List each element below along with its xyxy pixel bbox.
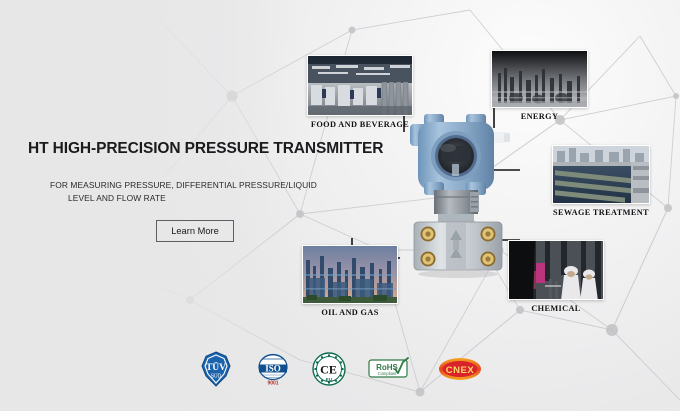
- certification-label-iso: ISO: [265, 363, 281, 373]
- banner-stage: FOOD AND BEVERAGE: [0, 0, 680, 411]
- category-thumbnail-oil-and-gas: [302, 245, 398, 304]
- product-image-pressure-transmitter: [404, 108, 512, 278]
- category-card-chemical[interactable]: CHEMICAL: [508, 240, 604, 313]
- certification-badge-iso: ISO 9001: [256, 352, 290, 386]
- category-label-chemical: CHEMICAL: [508, 304, 604, 313]
- certification-label-ce: CE: [320, 363, 337, 377]
- certification-sublabel-iso: 9001: [267, 381, 278, 387]
- hero-subtitle-line2: LEVEL AND FLOW RATE: [50, 192, 358, 205]
- certification-badges: TÜV SÜD ISO 9001: [0, 348, 680, 390]
- hero-subtitle: FOR MEASURING PRESSURE, DIFFERENTIAL PRE…: [28, 179, 358, 205]
- certification-badge-rohs: RoHS Compliant: [368, 357, 416, 381]
- certification-sublabel-tuv: SÜD: [211, 373, 222, 380]
- certification-badge-ce: CE EU: [312, 352, 346, 386]
- hero-copy: HT HIGH-PRECISION PRESSURE TRANSMITTER F…: [28, 140, 358, 205]
- category-thumbnail-chemical: [508, 240, 604, 300]
- category-card-oil-and-gas[interactable]: OIL AND GAS: [302, 245, 398, 317]
- certification-sublabel-ce: EU: [326, 377, 333, 382]
- category-card-food-and-beverage[interactable]: FOOD AND BEVERAGE: [307, 55, 413, 129]
- learn-more-button[interactable]: Learn More: [156, 220, 234, 242]
- category-thumbnail-food-and-beverage: [307, 55, 413, 116]
- category-thumbnail-sewage-treatment: [552, 145, 650, 204]
- category-label-oil-and-gas: OIL AND GAS: [302, 308, 398, 317]
- certification-badge-cnex: CNEX: [438, 356, 482, 382]
- certification-label-cnex: CNEX: [446, 365, 475, 376]
- category-label-sewage-treatment: SEWAGE TREATMENT: [552, 208, 650, 217]
- category-label-food-and-beverage: FOOD AND BEVERAGE: [307, 120, 413, 129]
- category-card-sewage-treatment[interactable]: SEWAGE TREATMENT: [552, 145, 650, 217]
- category-thumbnail-energy: [491, 50, 588, 108]
- certification-badge-tuv: TÜV SÜD: [198, 351, 234, 387]
- hero-subtitle-line1: FOR MEASURING PRESSURE, DIFFERENTIAL PRE…: [50, 180, 317, 190]
- page-title: HT HIGH-PRECISION PRESSURE TRANSMITTER: [28, 140, 358, 158]
- certification-sublabel-rohs: Compliant: [378, 371, 398, 376]
